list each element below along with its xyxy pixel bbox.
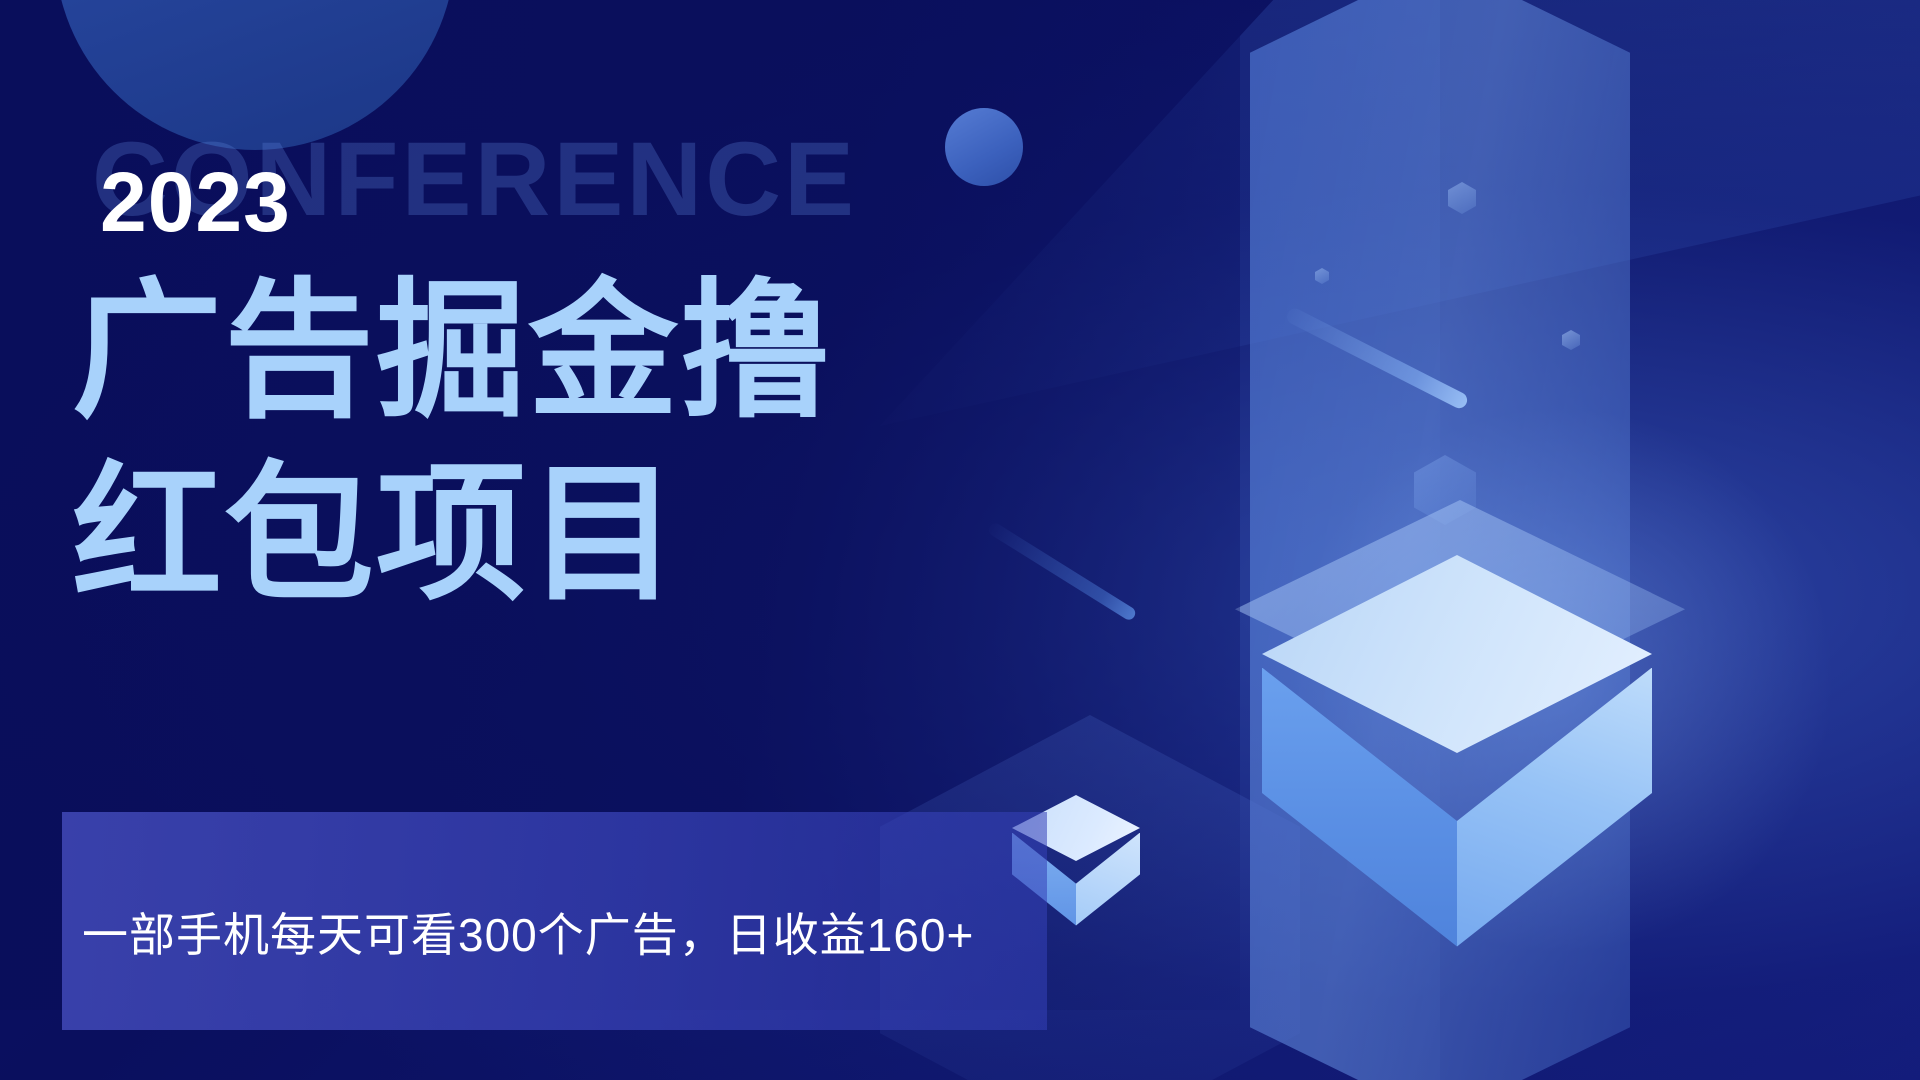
promo-poster: CONFERENCE 2023 广告掘金撸 红包项目 一部手机每天可看300个广… <box>0 0 1920 1080</box>
headline-line-1: 广告掘金撸 <box>72 267 832 435</box>
circle-small-decoration <box>945 108 1023 186</box>
year-label: 2023 <box>100 160 291 244</box>
page-title: 广告掘金撸 红包项目 <box>72 260 1192 626</box>
subtitle-text: 一部手机每天可看300个广告，日收益160+ <box>82 900 1042 971</box>
isometric-cube-main <box>1262 555 1652 1005</box>
headline-line-2: 红包项目 <box>72 443 1192 626</box>
